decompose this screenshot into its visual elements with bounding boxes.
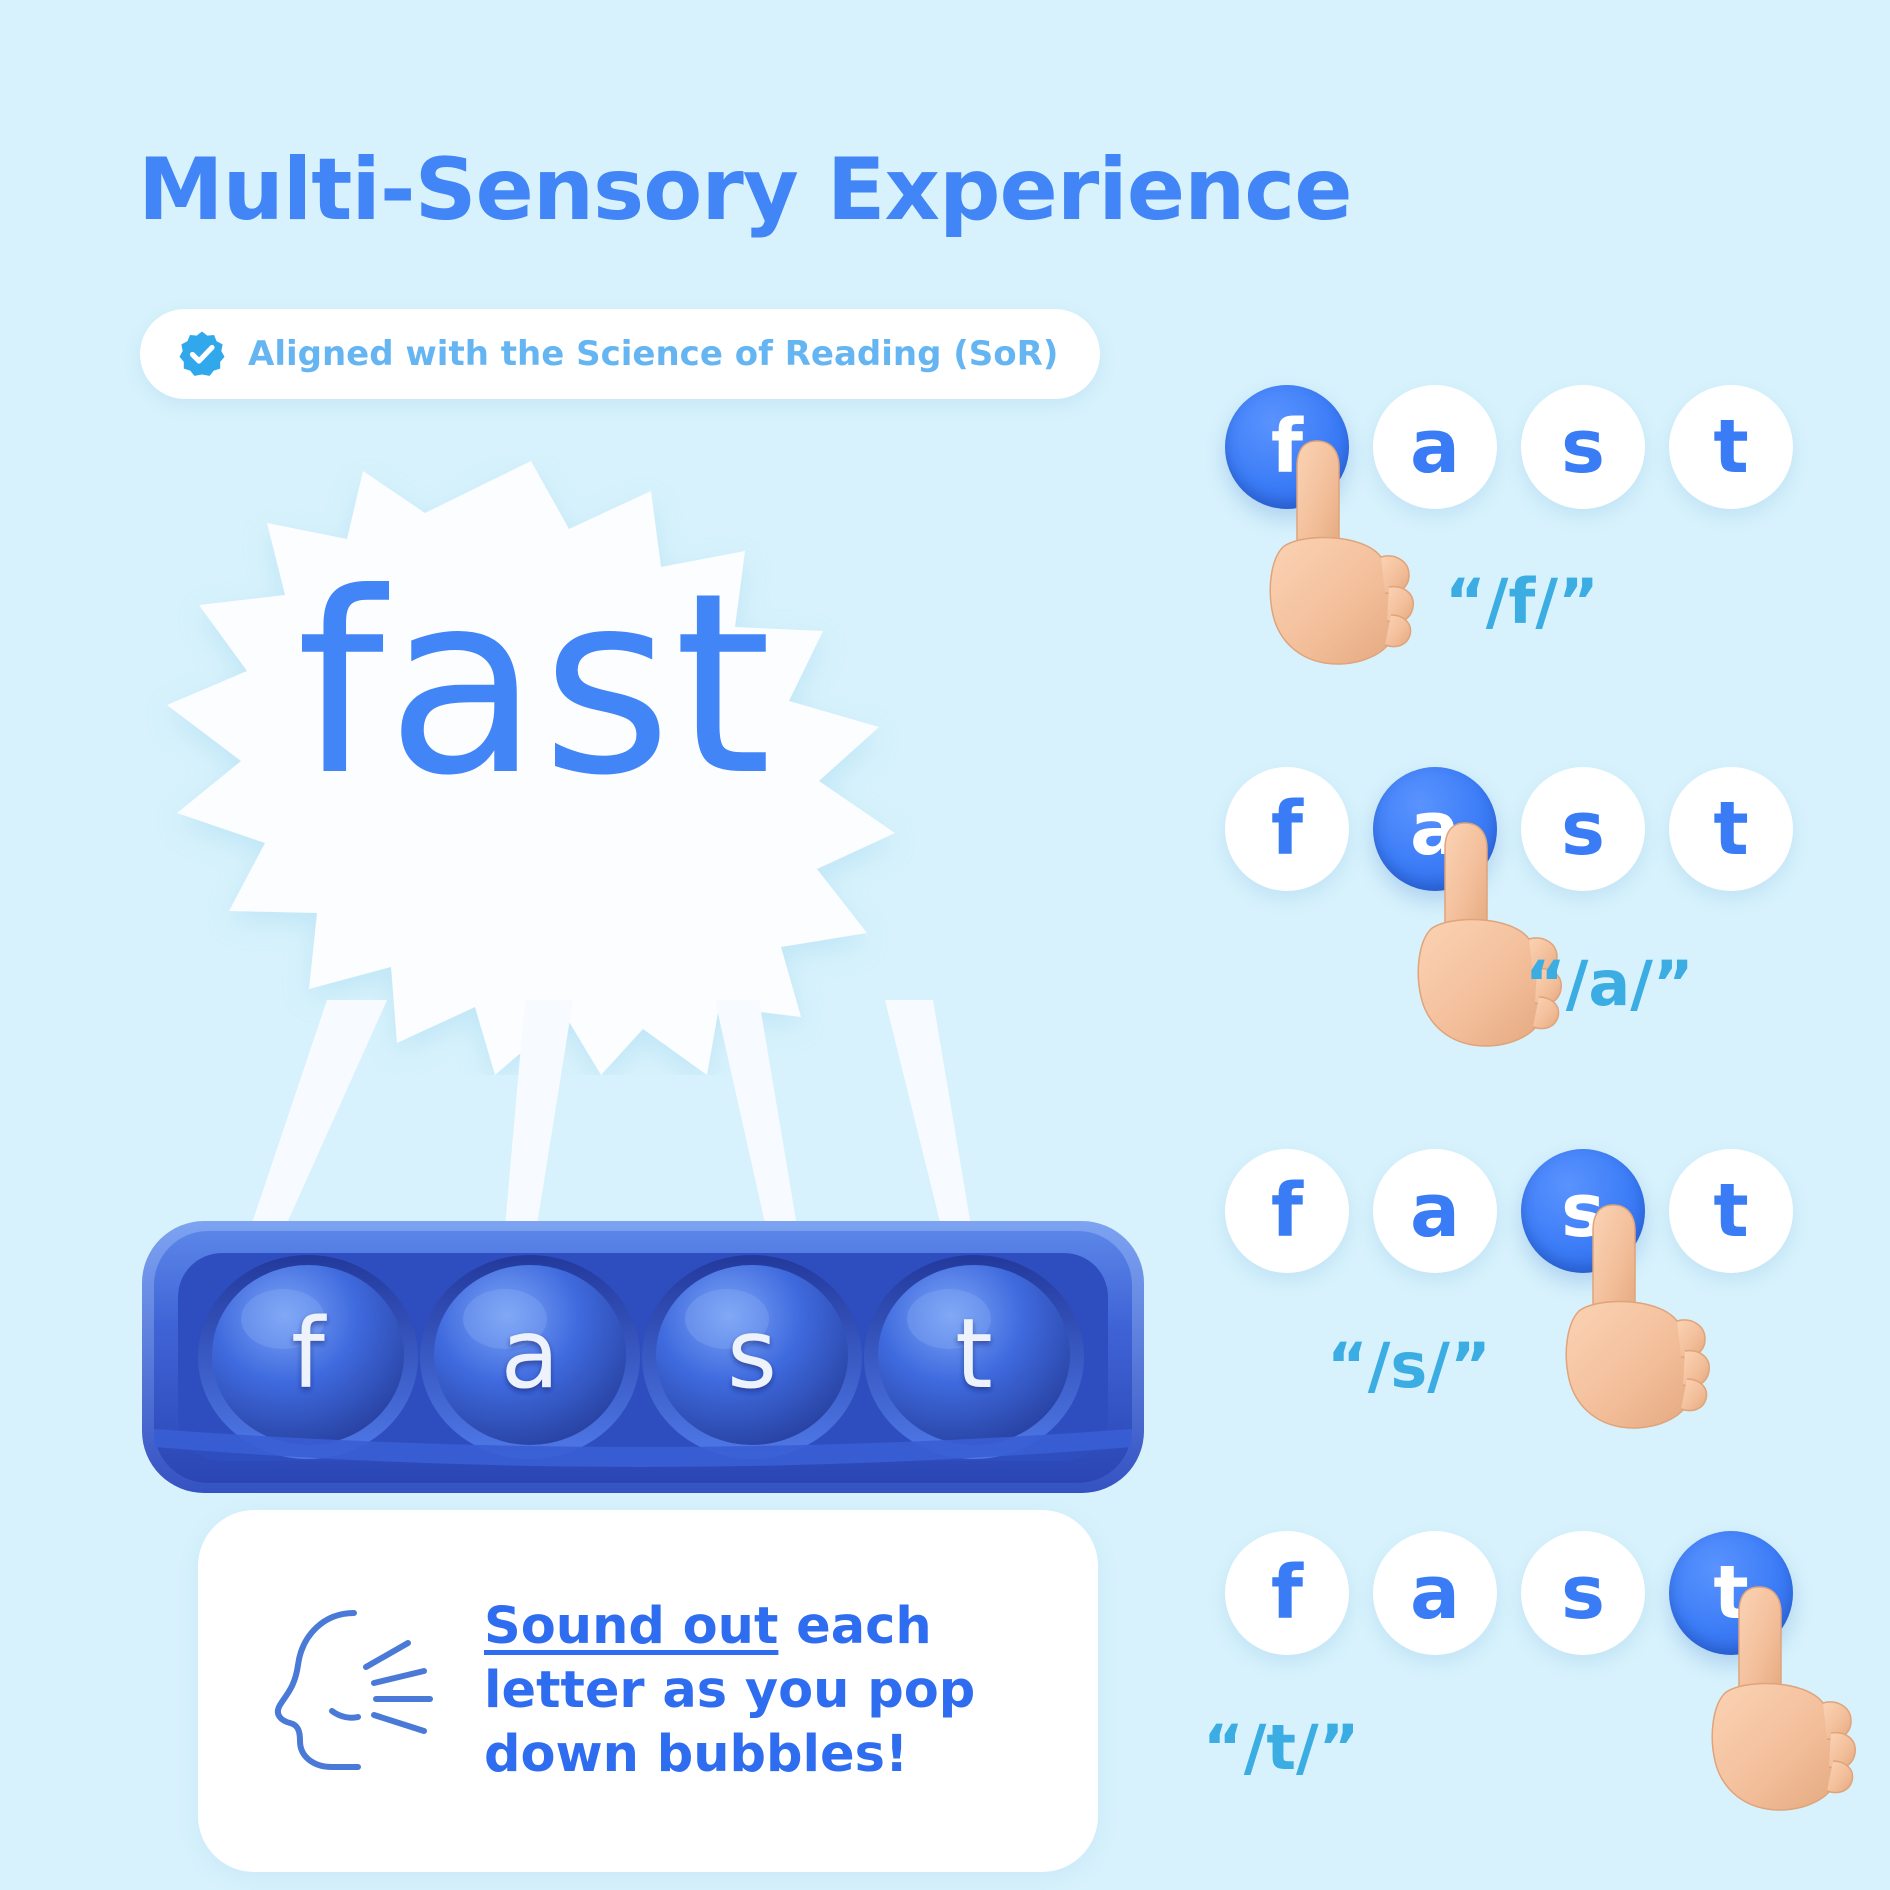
page-title: Multi-Sensory Experience xyxy=(138,140,1352,240)
phoneme-label: “/f/” xyxy=(1445,565,1599,638)
instruction-line2: letter as you pop xyxy=(484,1661,975,1720)
phoneme-row: f a s t xyxy=(1225,385,1845,767)
sor-badge-label: Aligned with the Science of Reading (SoR… xyxy=(248,334,1058,374)
letter-circle[interactable]: f xyxy=(1225,1149,1349,1273)
popit-bubble-letter: a xyxy=(501,1298,560,1410)
letter-circle-group: f a s t xyxy=(1225,1149,1845,1273)
instruction-panel: Sound out each letter as you pop down bu… xyxy=(198,1510,1098,1872)
pointing-hand-icon xyxy=(1253,437,1443,667)
phoneme-label: “/a/” xyxy=(1525,947,1694,1020)
letter-circle[interactable]: a xyxy=(1373,1531,1497,1655)
pointing-hand-icon xyxy=(1549,1201,1739,1431)
letter-circle[interactable]: f xyxy=(1225,767,1349,891)
phoneme-row: f a s t “/a/” xyxy=(1225,767,1845,1149)
speaking-mouth-icon xyxy=(258,1591,458,1791)
phoneme-label: “/s/” xyxy=(1327,1329,1491,1402)
phoneme-label: “/t/” xyxy=(1203,1711,1359,1784)
word-burst-callout: fast xyxy=(95,455,975,1075)
burst-word: fast xyxy=(95,560,975,810)
letter-circle[interactable]: s xyxy=(1521,1531,1645,1655)
sor-badge: Aligned with the Science of Reading (SoR… xyxy=(140,309,1100,399)
instruction-text: Sound out each letter as you pop down bu… xyxy=(484,1595,975,1786)
popit-fidget-toy[interactable]: f a s t xyxy=(138,1215,1148,1500)
letter-circle[interactable]: t xyxy=(1669,767,1793,891)
letter-circle[interactable]: a xyxy=(1373,1149,1497,1273)
popit-bubble-letter: s xyxy=(727,1298,777,1410)
pointing-hand-icon xyxy=(1695,1583,1885,1813)
instruction-line3: down bubbles! xyxy=(484,1725,908,1784)
phoneme-row: f a s t “/s/” xyxy=(1225,1149,1845,1531)
instruction-line1-rest: each xyxy=(778,1597,931,1656)
letter-circle[interactable]: t xyxy=(1669,385,1793,509)
phoneme-row: f a s t “/t/” xyxy=(1225,1531,1845,1890)
verified-check-icon xyxy=(178,330,226,378)
instruction-emphasis: Sound out xyxy=(484,1597,778,1656)
popit-bubble-letter: f xyxy=(291,1298,327,1410)
phoneme-sequence: f a s t xyxy=(1225,385,1845,1890)
popit-bubble-letter: t xyxy=(955,1298,993,1410)
letter-circle[interactable]: f xyxy=(1225,1531,1349,1655)
poster-canvas: Multi-Sensory Experience Aligned with th… xyxy=(0,0,1890,1890)
letter-circle[interactable]: s xyxy=(1521,385,1645,509)
